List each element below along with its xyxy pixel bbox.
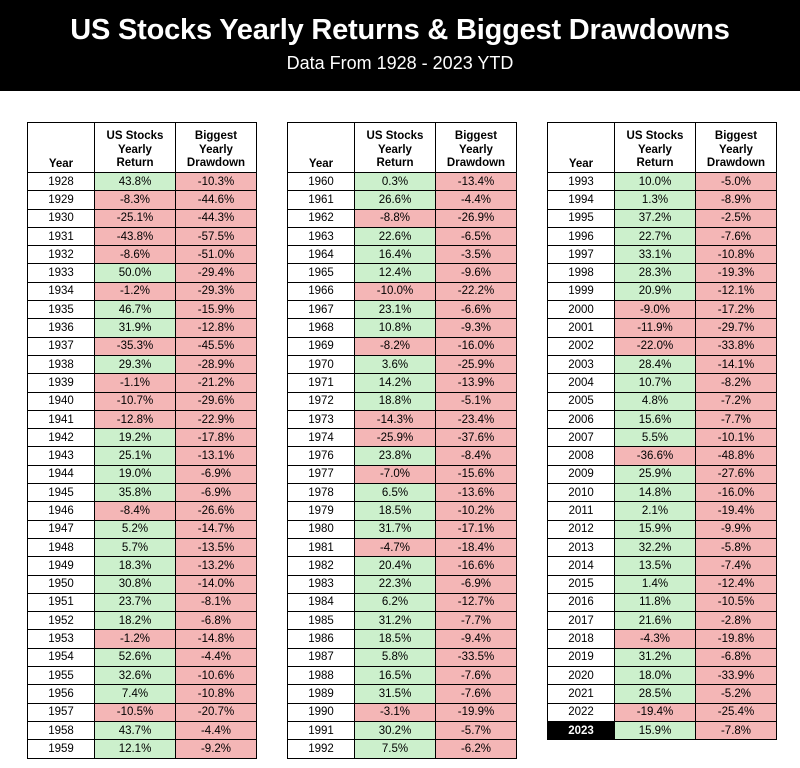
cell-year: 2009 xyxy=(548,465,615,483)
table-row: 1981-4.7%-18.4% xyxy=(288,538,517,556)
column-header-line: Yearly xyxy=(696,144,776,157)
cell-biggest-drawdown: -48.8% xyxy=(696,447,777,465)
table-row: 195030.8%-14.0% xyxy=(28,575,257,593)
cell-yearly-return: -10.5% xyxy=(95,703,176,721)
table-row: 19485.7%-13.5% xyxy=(28,538,257,556)
cell-year: 2007 xyxy=(548,429,615,447)
column-header-line: Yearly xyxy=(95,144,175,157)
cell-yearly-return: 6.2% xyxy=(355,593,436,611)
cell-year: 1929 xyxy=(28,191,95,209)
cell-year: 1995 xyxy=(548,209,615,227)
table-row: 199310.0%-5.0% xyxy=(548,173,777,191)
cell-biggest-drawdown: -25.9% xyxy=(436,355,517,373)
table-row: 200925.9%-27.6% xyxy=(548,465,777,483)
cell-biggest-drawdown: -13.2% xyxy=(176,557,257,575)
cell-year: 1938 xyxy=(28,355,95,373)
cell-yearly-return: 3.6% xyxy=(355,355,436,373)
cell-biggest-drawdown: -8.4% xyxy=(436,447,517,465)
cell-yearly-return: 46.7% xyxy=(95,301,176,319)
cell-yearly-return: -25.1% xyxy=(95,209,176,227)
cell-year: 1945 xyxy=(28,484,95,502)
cell-yearly-return: 14.8% xyxy=(615,484,696,502)
column-header-line: Yearly xyxy=(176,144,256,157)
table-row: 196723.1%-6.6% xyxy=(288,301,517,319)
cell-yearly-return: 18.5% xyxy=(355,630,436,648)
cell-yearly-return: -10.7% xyxy=(95,392,176,410)
table-row: 201215.9%-9.9% xyxy=(548,520,777,538)
cell-yearly-return: 15.6% xyxy=(615,410,696,428)
cell-yearly-return: 10.7% xyxy=(615,374,696,392)
cell-year: 1994 xyxy=(548,191,615,209)
cell-yearly-return: -11.9% xyxy=(615,319,696,337)
table-row: 195123.7%-8.1% xyxy=(28,593,257,611)
cell-yearly-return: -8.4% xyxy=(95,502,176,520)
table-row: 195912.1%-9.2% xyxy=(28,740,257,758)
cell-yearly-return: 18.5% xyxy=(355,502,436,520)
table-row: 197623.8%-8.4% xyxy=(288,447,517,465)
cell-biggest-drawdown: -6.9% xyxy=(176,484,257,502)
cell-yearly-return: -8.3% xyxy=(95,191,176,209)
cell-yearly-return: -35.3% xyxy=(95,337,176,355)
cell-year: 2018 xyxy=(548,630,615,648)
cell-yearly-return: 20.4% xyxy=(355,557,436,575)
cell-year: 1947 xyxy=(28,520,95,538)
table-row: 19941.3%-8.9% xyxy=(548,191,777,209)
table-row: 194535.8%-6.9% xyxy=(28,484,257,502)
cell-year: 1936 xyxy=(28,319,95,337)
table-row: 20151.4%-12.4% xyxy=(548,575,777,593)
cell-biggest-drawdown: -12.4% xyxy=(696,575,777,593)
cell-year: 1979 xyxy=(288,502,355,520)
cell-biggest-drawdown: -5.0% xyxy=(696,173,777,191)
cell-biggest-drawdown: -10.3% xyxy=(176,173,257,191)
cell-biggest-drawdown: -20.7% xyxy=(176,703,257,721)
column-header-drawdown: BiggestYearlyDrawdown xyxy=(696,123,777,173)
column-header-drawdown: BiggestYearlyDrawdown xyxy=(436,123,517,173)
cell-biggest-drawdown: -10.6% xyxy=(176,667,257,685)
cell-biggest-drawdown: -13.5% xyxy=(176,538,257,556)
cell-biggest-drawdown: -8.2% xyxy=(696,374,777,392)
cell-biggest-drawdown: -9.4% xyxy=(436,630,517,648)
cell-year: 2016 xyxy=(548,593,615,611)
table-row: 19567.4%-10.8% xyxy=(28,685,257,703)
column-header-line: Biggest xyxy=(436,130,516,143)
table-header-row: YearUS StocksYearlyReturnBiggestYearlyDr… xyxy=(28,123,257,173)
cell-yearly-return: 18.2% xyxy=(95,612,176,630)
cell-biggest-drawdown: -17.1% xyxy=(436,520,517,538)
cell-year: 1988 xyxy=(288,667,355,685)
cell-year: 1937 xyxy=(28,337,95,355)
table-row: 2018-4.3%-19.8% xyxy=(548,630,777,648)
cell-year: 2012 xyxy=(548,520,615,538)
cell-yearly-return: -12.8% xyxy=(95,410,176,428)
cell-year: 1997 xyxy=(548,246,615,264)
cell-year: 1932 xyxy=(28,246,95,264)
table-row: 196512.4%-9.6% xyxy=(288,264,517,282)
table-row: 192843.8%-10.3% xyxy=(28,173,257,191)
cell-yearly-return: 31.2% xyxy=(615,648,696,666)
table-row: 201014.8%-16.0% xyxy=(548,484,777,502)
table-row: 1939-1.1%-21.2% xyxy=(28,374,257,392)
cell-yearly-return: -3.1% xyxy=(355,703,436,721)
cell-year: 2008 xyxy=(548,447,615,465)
cell-biggest-drawdown: -6.9% xyxy=(176,465,257,483)
table-row: 1931-43.8%-57.5% xyxy=(28,227,257,245)
cell-year: 1944 xyxy=(28,465,95,483)
cell-yearly-return: 23.7% xyxy=(95,593,176,611)
table-row: 195843.7%-4.4% xyxy=(28,721,257,739)
cell-yearly-return: -4.3% xyxy=(615,630,696,648)
cell-yearly-return: 6.5% xyxy=(355,484,436,502)
cell-year: 2017 xyxy=(548,612,615,630)
cell-yearly-return: 22.6% xyxy=(355,227,436,245)
table-row: 1929-8.3%-44.6% xyxy=(28,191,257,209)
cell-year: 1950 xyxy=(28,575,95,593)
cell-biggest-drawdown: -9.9% xyxy=(696,520,777,538)
table-row: 195532.6%-10.6% xyxy=(28,667,257,685)
cell-year: 1941 xyxy=(28,410,95,428)
table-row: 201413.5%-7.4% xyxy=(548,557,777,575)
cell-yearly-return: 25.1% xyxy=(95,447,176,465)
table-row: 202018.0%-33.9% xyxy=(548,667,777,685)
cell-biggest-drawdown: -6.8% xyxy=(176,612,257,630)
table-row: 193631.9%-12.8% xyxy=(28,319,257,337)
cell-yearly-return: 15.9% xyxy=(615,721,696,739)
cell-year: 2000 xyxy=(548,301,615,319)
cell-biggest-drawdown: -10.2% xyxy=(436,502,517,520)
cell-yearly-return: 32.2% xyxy=(615,538,696,556)
cell-biggest-drawdown: -19.9% xyxy=(436,703,517,721)
table-row: 200410.7%-8.2% xyxy=(548,374,777,392)
table-row: 1962-8.8%-26.9% xyxy=(288,209,517,227)
cell-yearly-return: -1.2% xyxy=(95,630,176,648)
cell-biggest-drawdown: -26.9% xyxy=(436,209,517,227)
cell-yearly-return: 25.9% xyxy=(615,465,696,483)
table-row: 197114.2%-13.9% xyxy=(288,374,517,392)
cell-yearly-return: 31.2% xyxy=(355,612,436,630)
cell-biggest-drawdown: -5.2% xyxy=(696,685,777,703)
cell-year: 1952 xyxy=(28,612,95,630)
table-row: 20075.5%-10.1% xyxy=(548,429,777,447)
cell-biggest-drawdown: -5.8% xyxy=(696,538,777,556)
cell-year: 2020 xyxy=(548,667,615,685)
cell-year: 1976 xyxy=(288,447,355,465)
cell-year: 1958 xyxy=(28,721,95,739)
cell-yearly-return: 5.7% xyxy=(95,538,176,556)
cell-year: 2002 xyxy=(548,337,615,355)
title-banner: US Stocks Yearly Returns & Biggest Drawd… xyxy=(0,0,800,91)
cell-yearly-return: 14.2% xyxy=(355,374,436,392)
table-header-row: YearUS StocksYearlyReturnBiggestYearlyDr… xyxy=(548,123,777,173)
cell-biggest-drawdown: -23.4% xyxy=(436,410,517,428)
cell-year: 1974 xyxy=(288,429,355,447)
cell-biggest-drawdown: -16.6% xyxy=(436,557,517,575)
cell-yearly-return: 23.1% xyxy=(355,301,436,319)
cell-yearly-return: 12.1% xyxy=(95,740,176,758)
table-row: 199920.9%-12.1% xyxy=(548,282,777,300)
cell-yearly-return: 43.8% xyxy=(95,173,176,191)
cell-year: 1959 xyxy=(28,740,95,758)
table-row: 1932-8.6%-51.0% xyxy=(28,246,257,264)
column-header-line: Biggest xyxy=(176,130,256,143)
cell-biggest-drawdown: -5.7% xyxy=(436,721,517,739)
cell-biggest-drawdown: -9.3% xyxy=(436,319,517,337)
cell-yearly-return: 10.0% xyxy=(615,173,696,191)
cell-biggest-drawdown: -7.8% xyxy=(696,721,777,739)
cell-biggest-drawdown: -6.8% xyxy=(696,648,777,666)
table-row: 198322.3%-6.9% xyxy=(288,575,517,593)
cell-year: 1992 xyxy=(288,740,355,758)
table-row: 201611.8%-10.5% xyxy=(548,593,777,611)
cell-yearly-return: 28.4% xyxy=(615,355,696,373)
table-row: 1990-3.1%-19.9% xyxy=(288,703,517,721)
cell-year: 1943 xyxy=(28,447,95,465)
table-row: 198618.5%-9.4% xyxy=(288,630,517,648)
cell-year: 2021 xyxy=(548,685,615,703)
cell-yearly-return: 29.3% xyxy=(95,355,176,373)
table-row: 19475.2%-14.7% xyxy=(28,520,257,538)
cell-biggest-drawdown: -7.7% xyxy=(436,612,517,630)
table-row: 1937-35.3%-45.5% xyxy=(28,337,257,355)
table-row: 198931.5%-7.6% xyxy=(288,685,517,703)
table-row: 193546.7%-15.9% xyxy=(28,301,257,319)
table-row: 201931.2%-6.8% xyxy=(548,648,777,666)
cell-year: 1942 xyxy=(28,429,95,447)
table-row: 198816.5%-7.6% xyxy=(288,667,517,685)
table-header-row: YearUS StocksYearlyReturnBiggestYearlyDr… xyxy=(288,123,517,173)
cell-yearly-return: 18.3% xyxy=(95,557,176,575)
cell-yearly-return: 22.7% xyxy=(615,227,696,245)
column-header-line: Yearly xyxy=(436,144,516,157)
cell-biggest-drawdown: -13.9% xyxy=(436,374,517,392)
cell-year: 1960 xyxy=(288,173,355,191)
table-row: 194918.3%-13.2% xyxy=(28,557,257,575)
cell-year: 2006 xyxy=(548,410,615,428)
column-header-year: Year xyxy=(548,123,615,173)
table-row: 199733.1%-10.8% xyxy=(548,246,777,264)
cell-year: 1985 xyxy=(288,612,355,630)
cell-year: 1972 xyxy=(288,392,355,410)
cell-yearly-return: 52.6% xyxy=(95,648,176,666)
cell-yearly-return: -43.8% xyxy=(95,227,176,245)
cell-biggest-drawdown: -29.6% xyxy=(176,392,257,410)
table-row: 1969-8.2%-16.0% xyxy=(288,337,517,355)
cell-yearly-return: -1.1% xyxy=(95,374,176,392)
cell-biggest-drawdown: -17.8% xyxy=(176,429,257,447)
column-header-line: Drawdown xyxy=(696,157,776,170)
returns-table-1960-1992: YearUS StocksYearlyReturnBiggestYearlyDr… xyxy=(287,122,517,759)
cell-year: 1977 xyxy=(288,465,355,483)
cell-year: 2005 xyxy=(548,392,615,410)
cell-yearly-return: 18.8% xyxy=(355,392,436,410)
table-row: 198031.7%-17.1% xyxy=(288,520,517,538)
cell-yearly-return: 1.4% xyxy=(615,575,696,593)
table-row: 198220.4%-16.6% xyxy=(288,557,517,575)
cell-biggest-drawdown: -29.3% xyxy=(176,282,257,300)
cell-yearly-return: -4.7% xyxy=(355,538,436,556)
cell-year: 2014 xyxy=(548,557,615,575)
cell-biggest-drawdown: -12.8% xyxy=(176,319,257,337)
cell-biggest-drawdown: -13.1% xyxy=(176,447,257,465)
cell-yearly-return: 22.3% xyxy=(355,575,436,593)
cell-year: 1969 xyxy=(288,337,355,355)
cell-year: 1930 xyxy=(28,209,95,227)
cell-yearly-return: -9.0% xyxy=(615,301,696,319)
table-row: 20054.8%-7.2% xyxy=(548,392,777,410)
cell-biggest-drawdown: -7.6% xyxy=(436,667,517,685)
cell-year: 1984 xyxy=(288,593,355,611)
cell-yearly-return: 35.8% xyxy=(95,484,176,502)
table-row: 195218.2%-6.8% xyxy=(28,612,257,630)
cell-yearly-return: -14.3% xyxy=(355,410,436,428)
column-header-line: Biggest xyxy=(696,130,776,143)
cell-biggest-drawdown: -4.4% xyxy=(176,648,257,666)
cell-year: 1946 xyxy=(28,502,95,520)
cell-biggest-drawdown: -6.9% xyxy=(436,575,517,593)
cell-year: 1934 xyxy=(28,282,95,300)
cell-biggest-drawdown: -12.7% xyxy=(436,593,517,611)
cell-yearly-return: -22.0% xyxy=(615,337,696,355)
column-header-line: Return xyxy=(95,157,175,170)
cell-biggest-drawdown: -7.4% xyxy=(696,557,777,575)
table-row: 196810.8%-9.3% xyxy=(288,319,517,337)
column-header-line: US Stocks xyxy=(95,130,175,143)
table-row: 19600.3%-13.4% xyxy=(288,173,517,191)
column-header-return: US StocksYearlyReturn xyxy=(355,123,436,173)
table-row: 1941-12.8%-22.9% xyxy=(28,410,257,428)
cell-year: 1993 xyxy=(548,173,615,191)
cell-biggest-drawdown: -44.6% xyxy=(176,191,257,209)
cell-biggest-drawdown: -21.2% xyxy=(176,374,257,392)
cell-yearly-return: -8.2% xyxy=(355,337,436,355)
cell-year: 1998 xyxy=(548,264,615,282)
table-row: 20112.1%-19.4% xyxy=(548,502,777,520)
cell-year: 1951 xyxy=(28,593,95,611)
table-row: 194325.1%-13.1% xyxy=(28,447,257,465)
table-row: 1946-8.4%-26.6% xyxy=(28,502,257,520)
column-header-year: Year xyxy=(28,123,95,173)
cell-year: 2022 xyxy=(548,703,615,721)
cell-biggest-drawdown: -5.1% xyxy=(436,392,517,410)
table-row: 193350.0%-29.4% xyxy=(28,264,257,282)
cell-yearly-return: 13.5% xyxy=(615,557,696,575)
cell-year: 1966 xyxy=(288,282,355,300)
cell-biggest-drawdown: -25.4% xyxy=(696,703,777,721)
cell-yearly-return: -1.2% xyxy=(95,282,176,300)
table-row: 194419.0%-6.9% xyxy=(28,465,257,483)
cell-yearly-return: 11.8% xyxy=(615,593,696,611)
cell-yearly-return: -7.0% xyxy=(355,465,436,483)
cell-biggest-drawdown: -15.9% xyxy=(176,301,257,319)
page-subtitle: Data From 1928 - 2023 YTD xyxy=(0,51,800,75)
table-row: 199622.7%-7.6% xyxy=(548,227,777,245)
table-row: 200328.4%-14.1% xyxy=(548,355,777,373)
cell-yearly-return: -8.8% xyxy=(355,209,436,227)
table-row: 2000-9.0%-17.2% xyxy=(548,301,777,319)
cell-biggest-drawdown: -19.3% xyxy=(696,264,777,282)
cell-yearly-return: -10.0% xyxy=(355,282,436,300)
table-row: 202315.9%-7.8% xyxy=(548,721,777,739)
cell-biggest-drawdown: -2.8% xyxy=(696,612,777,630)
column-header-line: Drawdown xyxy=(176,157,256,170)
column-header-line: Drawdown xyxy=(436,157,516,170)
cell-yearly-return: 18.0% xyxy=(615,667,696,685)
returns-table-1993-2023: YearUS StocksYearlyReturnBiggestYearlyDr… xyxy=(547,122,777,740)
table-row: 19846.2%-12.7% xyxy=(288,593,517,611)
cell-yearly-return: 1.3% xyxy=(615,191,696,209)
cell-biggest-drawdown: -33.5% xyxy=(436,648,517,666)
cell-year: 1931 xyxy=(28,227,95,245)
cell-yearly-return: -8.6% xyxy=(95,246,176,264)
cell-biggest-drawdown: -28.9% xyxy=(176,355,257,373)
cell-yearly-return: 23.8% xyxy=(355,447,436,465)
cell-year: 1963 xyxy=(288,227,355,245)
cell-biggest-drawdown: -14.7% xyxy=(176,520,257,538)
cell-year: 1949 xyxy=(28,557,95,575)
cell-yearly-return: 21.6% xyxy=(615,612,696,630)
cell-biggest-drawdown: -7.6% xyxy=(696,227,777,245)
cell-biggest-drawdown: -7.6% xyxy=(436,685,517,703)
cell-biggest-drawdown: -57.5% xyxy=(176,227,257,245)
cell-biggest-drawdown: -18.4% xyxy=(436,538,517,556)
cell-biggest-drawdown: -26.6% xyxy=(176,502,257,520)
cell-yearly-return: 31.9% xyxy=(95,319,176,337)
table-row: 1966-10.0%-22.2% xyxy=(288,282,517,300)
cell-year: 1991 xyxy=(288,721,355,739)
table-row: 196322.6%-6.5% xyxy=(288,227,517,245)
table-row: 1940-10.7%-29.6% xyxy=(28,392,257,410)
cell-yearly-return: 5.5% xyxy=(615,429,696,447)
cell-year: 1973 xyxy=(288,410,355,428)
table-row: 1934-1.2%-29.3% xyxy=(28,282,257,300)
returns-table-1928-1959: YearUS StocksYearlyReturnBiggestYearlyDr… xyxy=(27,122,257,759)
cell-year: 1981 xyxy=(288,538,355,556)
table-row: 201721.6%-2.8% xyxy=(548,612,777,630)
table-row: 195452.6%-4.4% xyxy=(28,648,257,666)
cell-year: 1986 xyxy=(288,630,355,648)
table-row: 199130.2%-5.7% xyxy=(288,721,517,739)
column-header-line: US Stocks xyxy=(355,130,435,143)
column-header-line: US Stocks xyxy=(615,130,695,143)
cell-biggest-drawdown: -6.2% xyxy=(436,740,517,758)
column-header-drawdown: BiggestYearlyDrawdown xyxy=(176,123,257,173)
cell-biggest-drawdown: -10.1% xyxy=(696,429,777,447)
table-row: 19875.8%-33.5% xyxy=(288,648,517,666)
cell-biggest-drawdown: -8.9% xyxy=(696,191,777,209)
cell-yearly-return: 16.5% xyxy=(355,667,436,685)
cell-biggest-drawdown: -51.0% xyxy=(176,246,257,264)
page-title: US Stocks Yearly Returns & Biggest Drawd… xyxy=(0,12,800,48)
table-row: 19786.5%-13.6% xyxy=(288,484,517,502)
cell-year: 1961 xyxy=(288,191,355,209)
cell-yearly-return: 19.2% xyxy=(95,429,176,447)
cell-yearly-return: 28.3% xyxy=(615,264,696,282)
cell-year: 1939 xyxy=(28,374,95,392)
cell-yearly-return: 26.6% xyxy=(355,191,436,209)
cell-biggest-drawdown: -4.4% xyxy=(176,721,257,739)
cell-biggest-drawdown: -19.4% xyxy=(696,502,777,520)
cell-biggest-drawdown: -4.4% xyxy=(436,191,517,209)
cell-yearly-return: 30.2% xyxy=(355,721,436,739)
table-row: 196416.4%-3.5% xyxy=(288,246,517,264)
cell-biggest-drawdown: -16.0% xyxy=(696,484,777,502)
cell-biggest-drawdown: -15.6% xyxy=(436,465,517,483)
cell-yearly-return: 31.5% xyxy=(355,685,436,703)
cell-year: 1954 xyxy=(28,648,95,666)
cell-biggest-drawdown: -16.0% xyxy=(436,337,517,355)
cell-biggest-drawdown: -19.8% xyxy=(696,630,777,648)
cell-year: 1990 xyxy=(288,703,355,721)
